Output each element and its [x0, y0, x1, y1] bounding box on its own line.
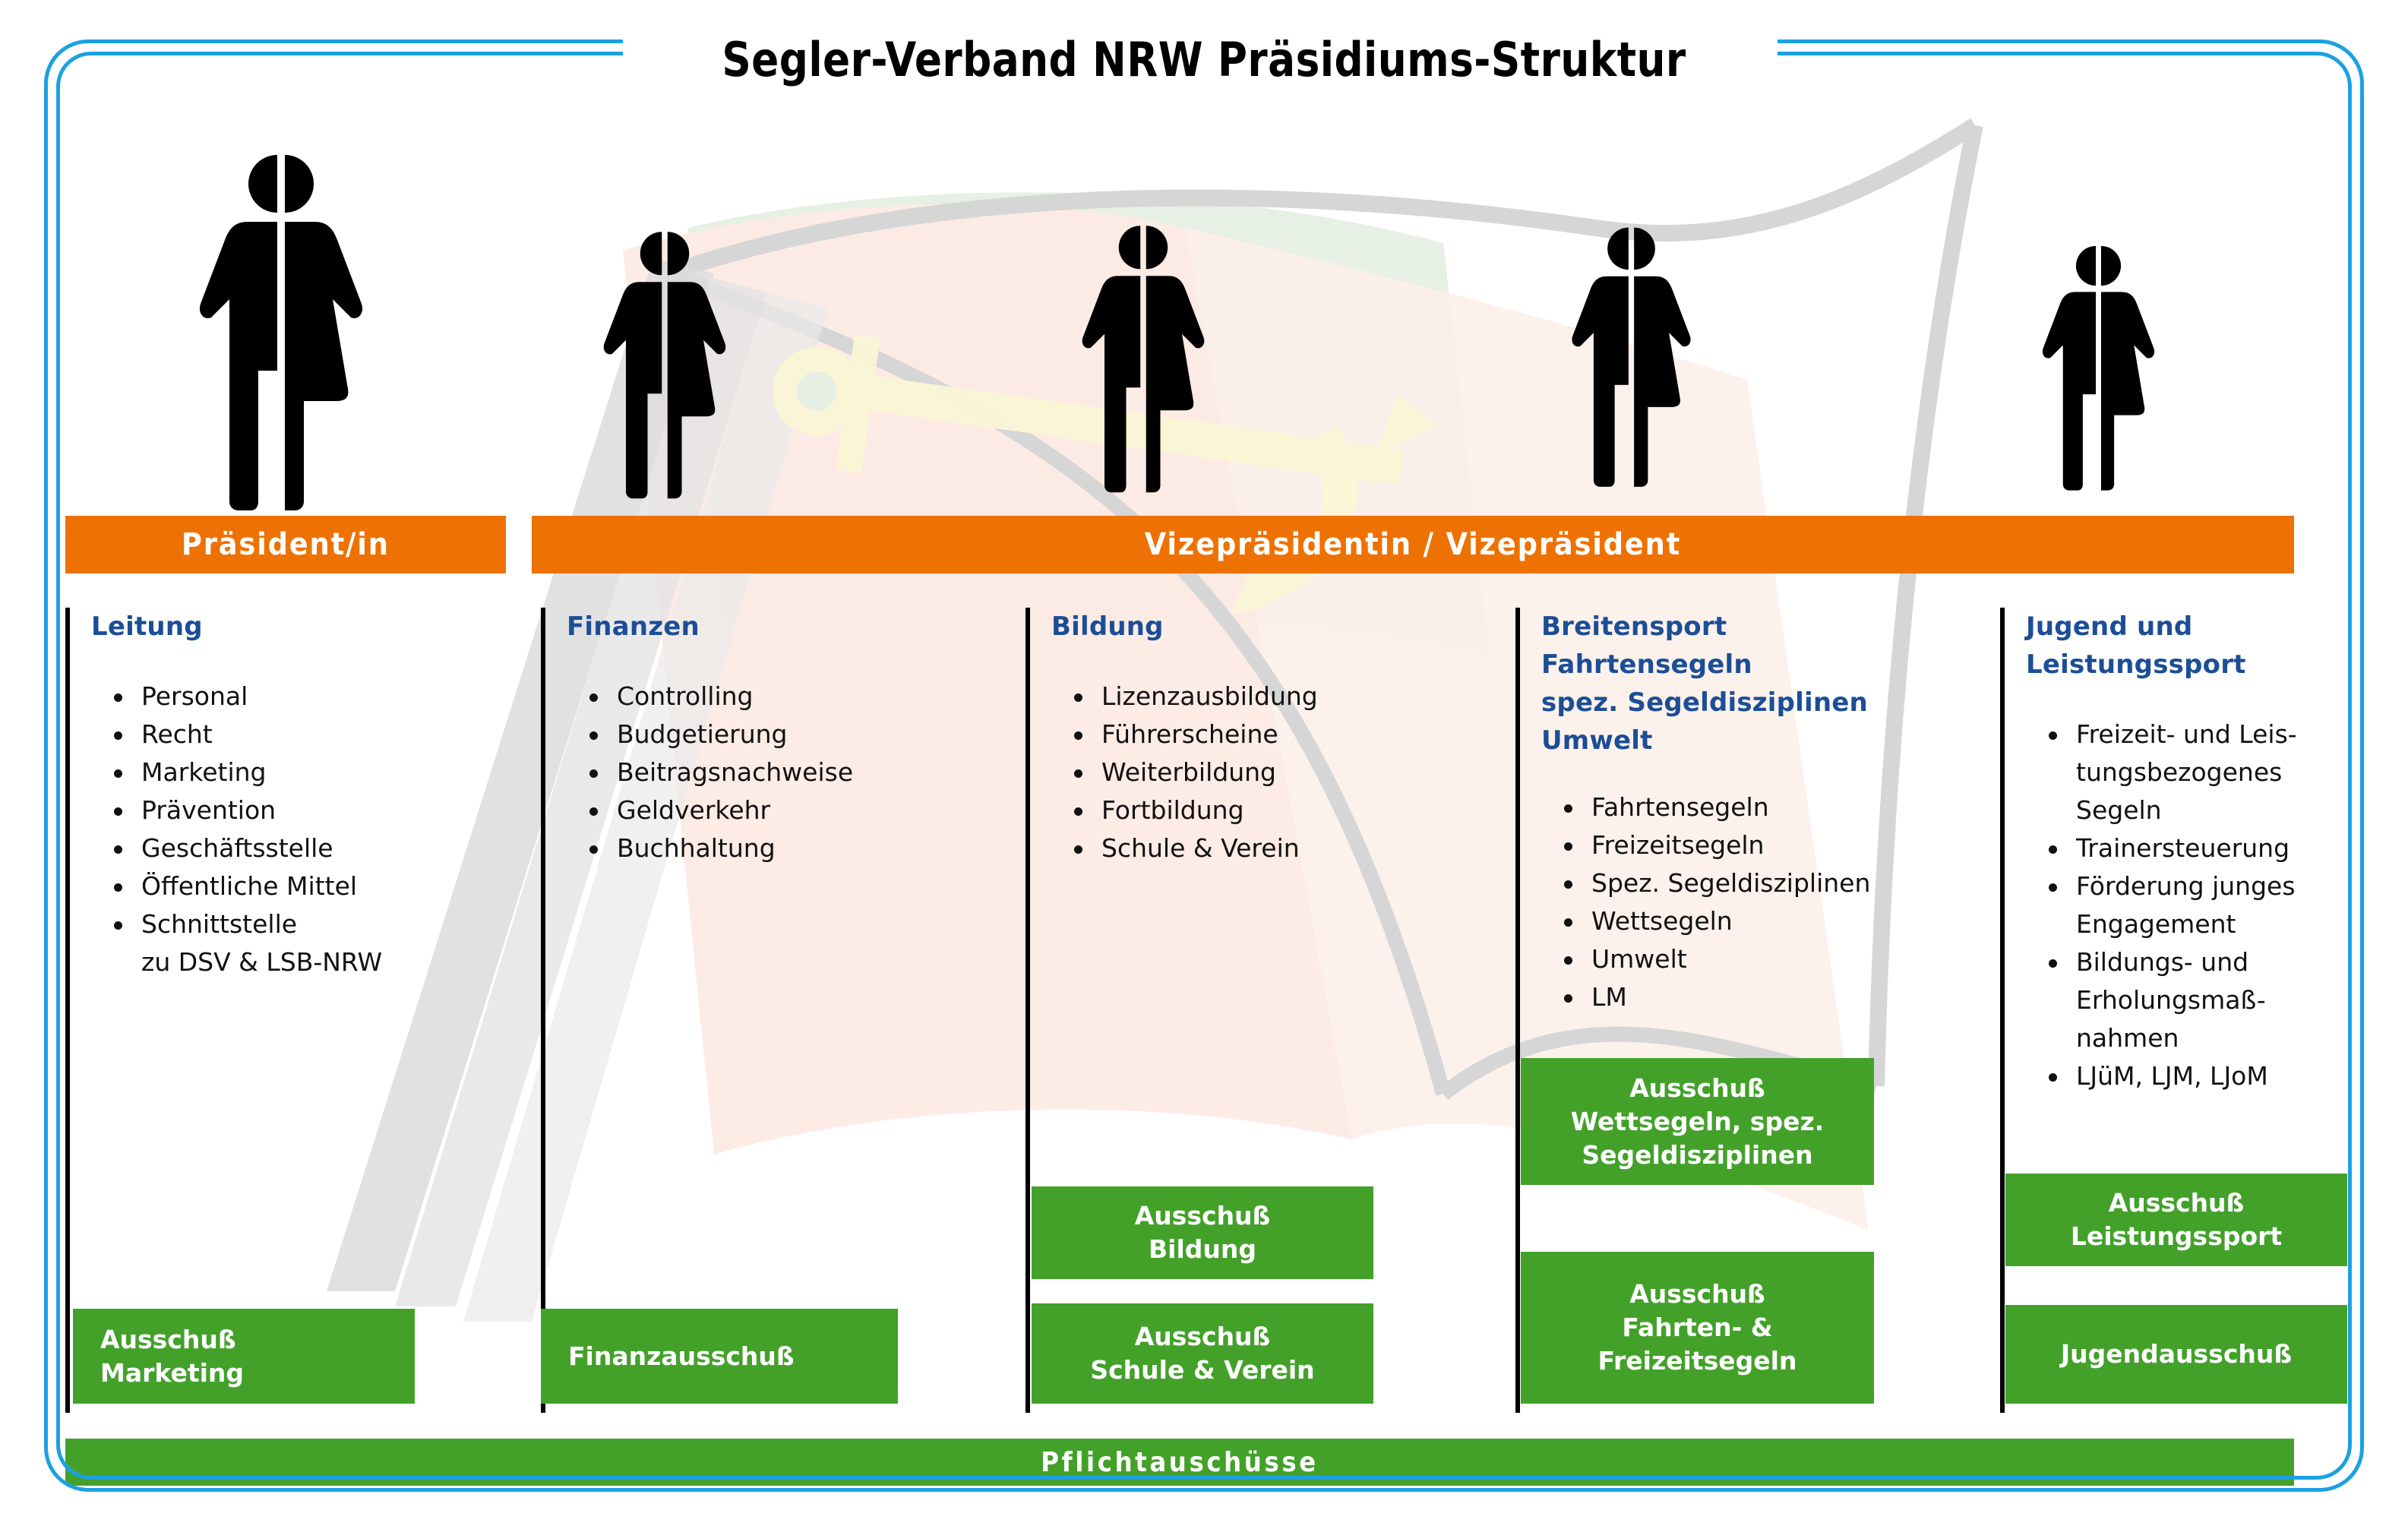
column-list-bildung: Lizenzausbildung Führerscheine Weiterbil… — [1070, 678, 1318, 867]
column-divider-rule — [1025, 608, 1030, 1413]
list-item: Freizeit- und Leis- — [2044, 716, 2297, 753]
committee-box-ausschuss-fahrten-freizeitsegeln: Ausschuß Fahrten- & Freizeitsegeln — [1521, 1252, 1874, 1404]
list-item: Fahrtensegeln — [1560, 788, 1870, 826]
footer-bar-label: Pflichtauschüsse — [1041, 1447, 1319, 1478]
diagram-canvas: Segler-Verband NRW Präsidiums-Struktur — [0, 0, 2408, 1529]
footer-bar-pflichtausschuesse: Pflichtauschüsse — [65, 1439, 2294, 1486]
role-bar-president: Präsident/in — [65, 516, 506, 573]
list-item: Spez. Segeldisziplinen — [1560, 864, 1870, 902]
person-male-female-split-icon — [2036, 220, 2161, 515]
list-item: Schnittstelle — [109, 905, 382, 943]
list-item: Budgetierung — [585, 716, 853, 753]
list-item-continuation: Engagement — [2044, 905, 2297, 943]
list-item: Geschäftsstelle — [109, 829, 382, 867]
column-heading-finanzen: Finanzen — [567, 608, 700, 646]
list-item: LM — [1560, 978, 1870, 1016]
list-item: LJüM, LJM, LJoM — [2044, 1057, 2297, 1095]
list-item: Bildungs- und — [2044, 943, 2297, 981]
list-item: Weiterbildung — [1070, 753, 1318, 791]
list-item: Lizenzausbildung — [1070, 678, 1318, 716]
page-title: Segler-Verband NRW Präsidiums-Struktur — [169, 32, 2239, 87]
committee-box-ausschuss-wettsegeln: Ausschuß Wettsegeln, spez. Segeldiszipli… — [1521, 1058, 1874, 1185]
column-list-finanzen: Controlling Budgetierung Beitragsnachwei… — [585, 678, 853, 867]
role-bar-vice-president: Vizepräsidentin / Vizepräsident — [532, 516, 2294, 573]
column-finanzen: Finanzen Controlling Budgetierung Beitra… — [541, 608, 997, 1413]
column-divider-rule — [2000, 608, 2005, 1413]
committee-box-ausschuss-schule-verein: Ausschuß Schule & Verein — [1032, 1303, 1373, 1404]
column-list-breitensport: Fahrtensegeln Freizeitsegeln Spez. Segel… — [1560, 788, 1870, 1016]
column-heading-bildung: Bildung — [1051, 608, 1164, 646]
person-male-female-split-icon — [1075, 214, 1212, 503]
list-item: Personal — [109, 678, 382, 716]
column-list-jugend-leistungssport: Freizeit- und Leis- tungsbezogenes Segel… — [2044, 716, 2297, 1095]
list-item: Trainersteuerung — [2044, 829, 2297, 867]
list-item: Buchhaltung — [585, 829, 853, 867]
committee-box-jugendausschuss: Jugendausschuß — [2005, 1305, 2347, 1404]
person-male-female-split-icon — [1565, 214, 1698, 499]
committee-box-ausschuss-bildung: Ausschuß Bildung — [1032, 1186, 1373, 1279]
committee-box-ausschuss-leistungssport: Ausschuß Leistungssport — [2005, 1174, 2347, 1266]
committee-box-ausschuss-marketing: Ausschuß Marketing — [73, 1309, 415, 1404]
column-divider-rule — [1515, 608, 1520, 1413]
list-item-continuation: Erholungsmaß- — [2044, 981, 2297, 1019]
column-jugend-leistungssport: Jugend und Leistungssport Freizeit- und … — [2000, 608, 2365, 1413]
role-bar-president-label: Präsident/in — [182, 527, 390, 562]
list-item: Öffentliche Mittel — [109, 867, 382, 905]
column-heading-jugend-leistungssport: Jugend und Leistungssport — [2026, 608, 2246, 684]
list-item: Freizeitsegeln — [1560, 826, 1870, 864]
column-leitung: Leitung Personal Recht Marketing Prävent… — [65, 608, 506, 1413]
column-heading-breitensport: Breitensport Fahrtensegeln spez. Segeldi… — [1541, 608, 1868, 760]
list-item: Fortbildung — [1070, 791, 1318, 829]
list-item-continuation: Segeln — [2044, 791, 2297, 829]
person-male-female-split-icon — [596, 220, 733, 509]
column-divider-rule — [65, 608, 70, 1413]
list-item: Umwelt — [1560, 940, 1870, 978]
list-item: Wettsegeln — [1560, 902, 1870, 940]
list-item: Schule & Verein — [1070, 829, 1318, 867]
committee-box-finanzausschuss: Finanzausschuß — [541, 1309, 898, 1404]
list-item: Beitragsnachweise — [585, 753, 853, 791]
list-item-continuation: tungsbezogenes — [2044, 753, 2297, 791]
role-bar-vice-president-label: Vizepräsidentin / Vizepräsident — [1145, 527, 1681, 562]
list-item: Förderung junges — [2044, 867, 2297, 905]
column-bildung: Bildung Lizenzausbildung Führerscheine W… — [1025, 608, 1481, 1413]
column-list-leitung: Personal Recht Marketing Prävention Gesc… — [109, 678, 382, 981]
list-item-continuation: nahmen — [2044, 1019, 2297, 1057]
list-item: Controlling — [585, 678, 853, 716]
list-item: Recht — [109, 716, 382, 753]
list-item: Prävention — [109, 791, 382, 829]
list-item-continuation: zu DSV & LSB-NRW — [109, 943, 382, 981]
list-item: Führerscheine — [1070, 716, 1318, 753]
column-heading-leitung: Leitung — [91, 608, 203, 646]
list-item: Marketing — [109, 753, 382, 791]
list-item: Geldverkehr — [585, 791, 853, 829]
person-male-female-split-icon — [190, 146, 372, 518]
column-divider-rule — [541, 608, 545, 1413]
